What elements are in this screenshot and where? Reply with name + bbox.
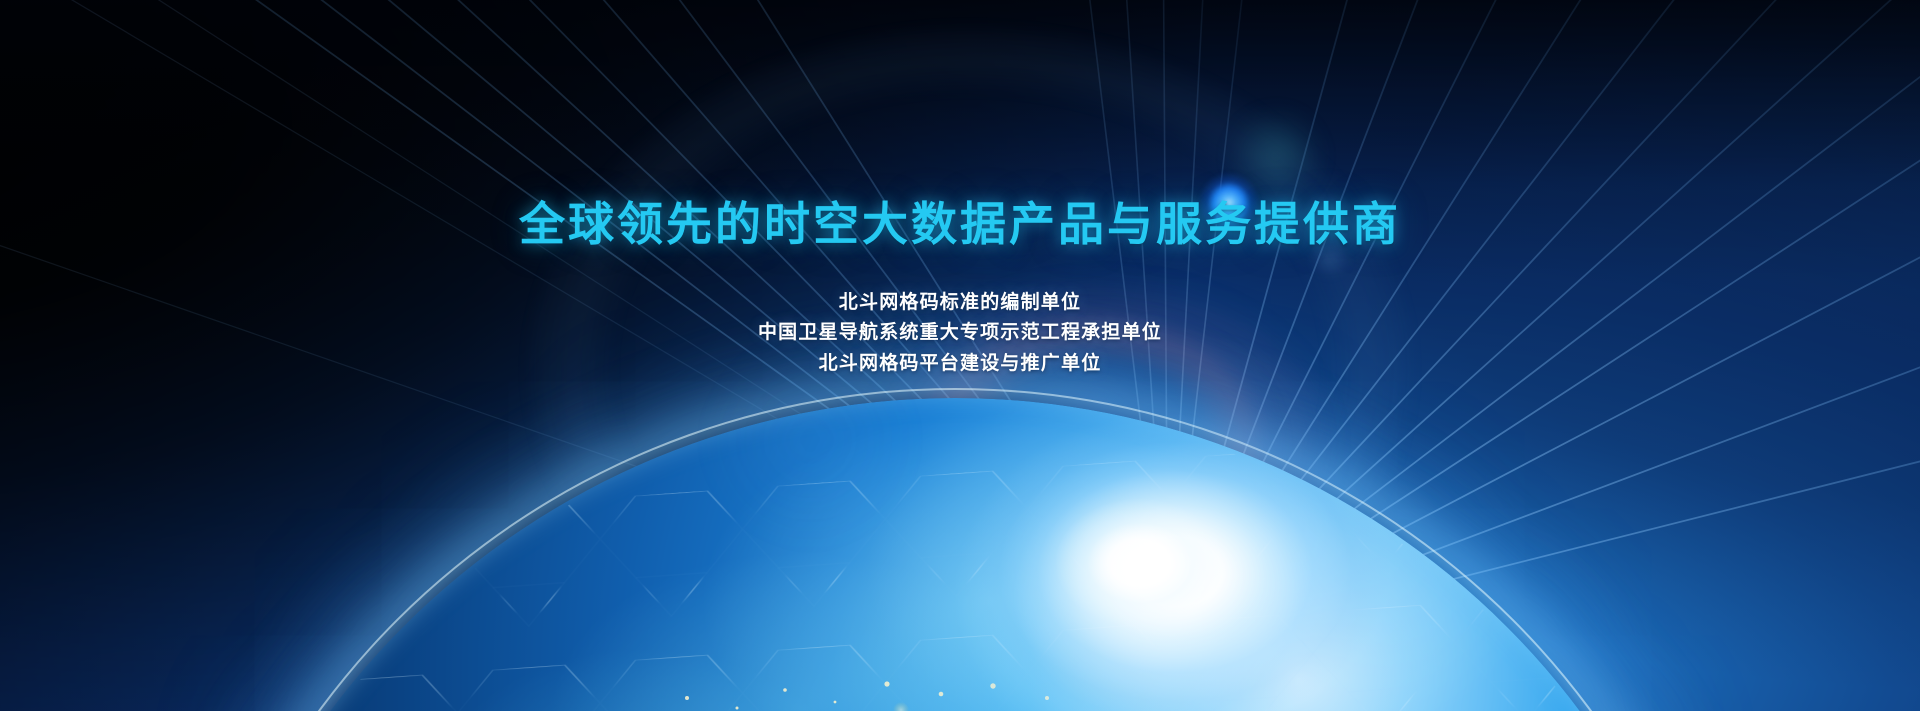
hero-subtitle-line: 北斗网格码标准的编制单位 (0, 288, 1920, 319)
hero-subtitle-line: 中国卫星导航系统重大专项示范工程承担单位 (0, 318, 1920, 349)
hero-subtitle-line: 北斗网格码平台建设与推广单位 (0, 349, 1920, 380)
hero-content: 全球领先的时空大数据产品与服务提供商 北斗网格码标准的编制单位 中国卫星导航系统… (0, 196, 1920, 380)
hero-subtitle-list: 北斗网格码标准的编制单位 中国卫星导航系统重大专项示范工程承担单位 北斗网格码平… (0, 288, 1920, 380)
earth-globe (175, 398, 1735, 711)
hero-banner: 全球领先的时空大数据产品与服务提供商 北斗网格码标准的编制单位 中国卫星导航系统… (0, 0, 1920, 711)
sun-hotspot (1055, 498, 1225, 628)
hero-title: 全球领先的时空大数据产品与服务提供商 (0, 196, 1920, 254)
hexagonal-grid-overlay (175, 398, 1735, 711)
